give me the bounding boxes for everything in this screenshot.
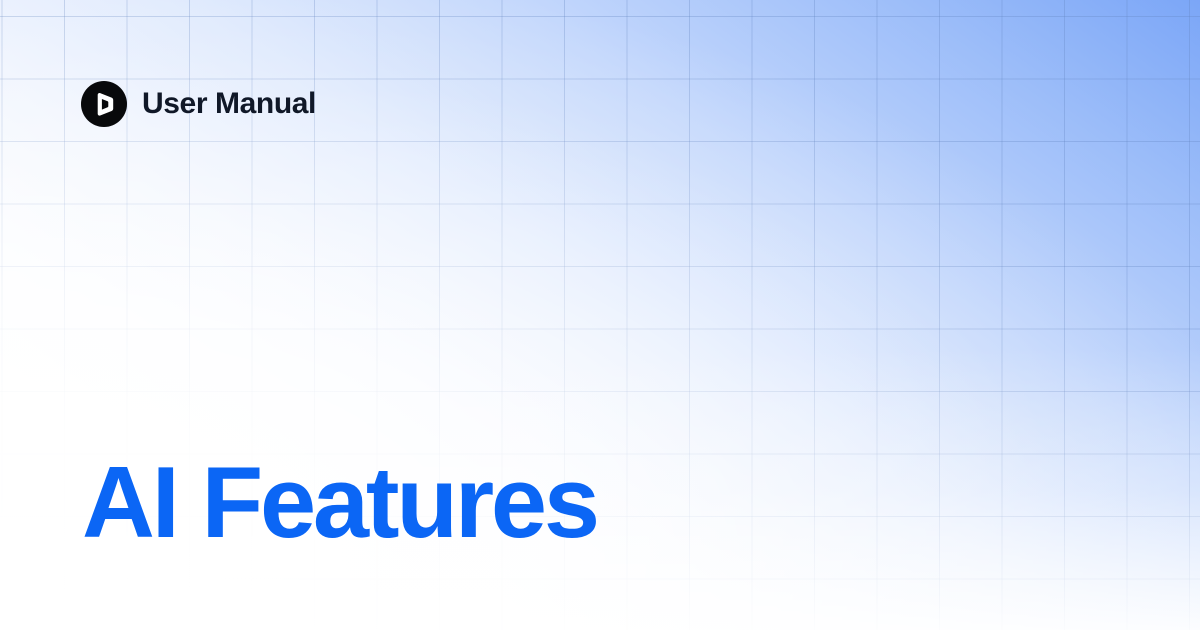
page-title: AI Features — [82, 450, 597, 556]
duality-cube-logo-icon — [81, 81, 127, 127]
brand-label: User Manual — [142, 89, 316, 119]
cover-page: User Manual AI Features — [0, 0, 1200, 630]
brand-header: User Manual — [81, 81, 316, 127]
